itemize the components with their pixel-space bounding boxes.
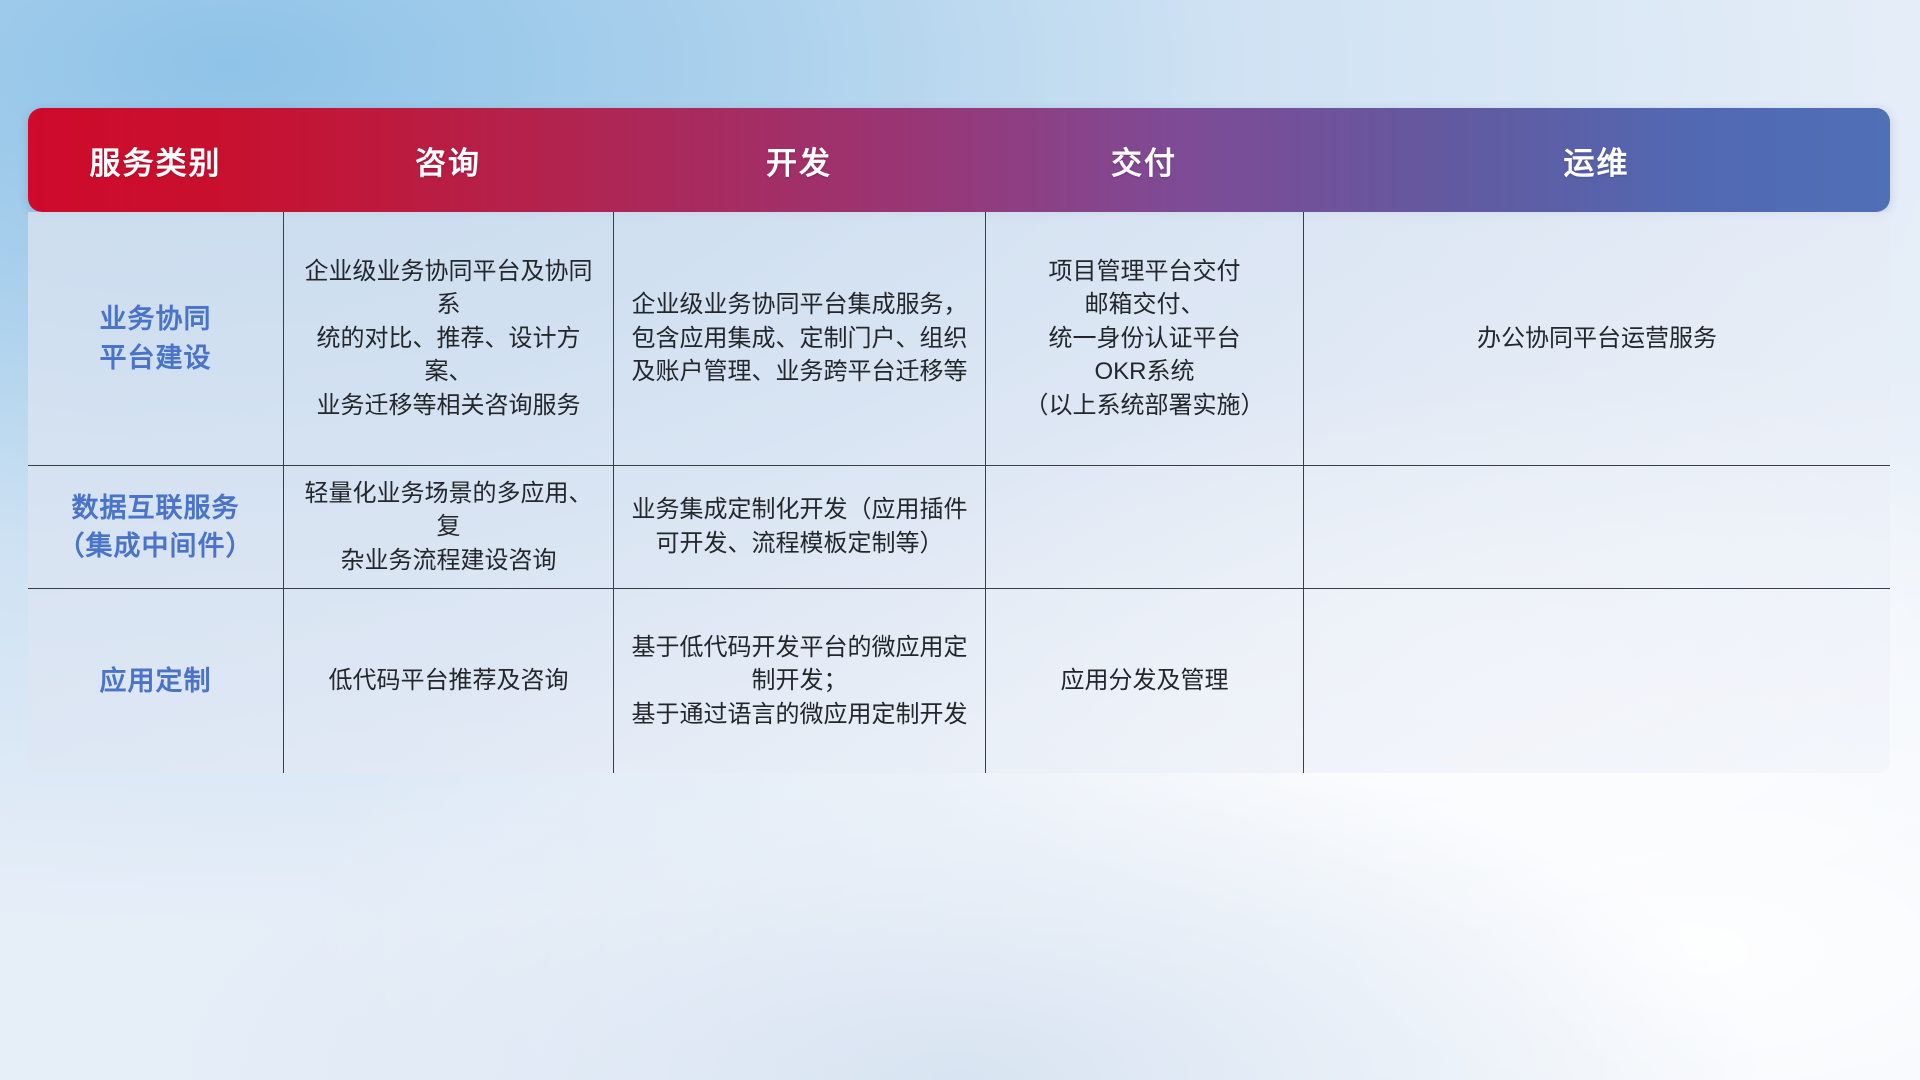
table-row: 业务协同 平台建设 企业级业务协同平台及协同系 统的对比、推荐、设计方案、 业务… bbox=[28, 212, 1890, 465]
table-header-row: 服务类别 咨询 开发 交付 运维 bbox=[28, 108, 1890, 212]
column-header-consulting[interactable]: 咨询 bbox=[283, 138, 613, 183]
column-header-development[interactable]: 开发 bbox=[613, 138, 985, 183]
cell-delivery: 项目管理平台交付 邮箱交付、 统一身份认证平台 OKR系统 （以上系统部署实施） bbox=[985, 212, 1303, 465]
cell-operations-text: 办公协同平台运营服务 bbox=[1477, 322, 1717, 356]
cell-consulting-text: 轻量化业务场景的多应用、复 杂业务流程建设咨询 bbox=[298, 477, 599, 578]
cell-development-text: 业务集成定制化开发（应用插件 可开发、流程模板定制等） bbox=[632, 493, 968, 560]
cell-operations: 办公协同平台运营服务 bbox=[1303, 212, 1890, 465]
row-category-label: 业务协同 平台建设 bbox=[28, 212, 283, 465]
cell-consulting: 企业级业务协同平台及协同系 统的对比、推荐、设计方案、 业务迁移等相关咨询服务 bbox=[283, 212, 613, 465]
column-header-category[interactable]: 服务类别 bbox=[28, 138, 283, 183]
cell-operations bbox=[1303, 589, 1890, 773]
cell-consulting: 轻量化业务场景的多应用、复 杂业务流程建设咨询 bbox=[283, 466, 613, 588]
column-header-delivery[interactable]: 交付 bbox=[985, 138, 1303, 183]
row-category-label: 数据互联服务 （集成中间件） bbox=[28, 466, 283, 588]
service-matrix-table: 服务类别 咨询 开发 交付 运维 业务协同 平台建设 企业级业务协同平台及协同系… bbox=[28, 108, 1890, 773]
cell-delivery-text: 应用分发及管理 bbox=[1061, 664, 1229, 698]
table-row: 数据互联服务 （集成中间件） 轻量化业务场景的多应用、复 杂业务流程建设咨询 业… bbox=[28, 465, 1890, 588]
column-header-operations[interactable]: 运维 bbox=[1303, 138, 1890, 183]
table-row: 应用定制 低代码平台推荐及咨询 基于低代码开发平台的微应用定 制开发； 基于通过… bbox=[28, 588, 1890, 773]
table-body: 业务协同 平台建设 企业级业务协同平台及协同系 统的对比、推荐、设计方案、 业务… bbox=[28, 212, 1890, 773]
cell-development: 业务集成定制化开发（应用插件 可开发、流程模板定制等） bbox=[613, 466, 985, 588]
cell-consulting-text: 企业级业务协同平台及协同系 统的对比、推荐、设计方案、 业务迁移等相关咨询服务 bbox=[298, 255, 599, 423]
cell-development-text: 基于低代码开发平台的微应用定 制开发； 基于通过语言的微应用定制开发 bbox=[632, 631, 968, 732]
cell-delivery-text: 项目管理平台交付 邮箱交付、 统一身份认证平台 OKR系统 （以上系统部署实施） bbox=[1025, 255, 1265, 423]
row-category-label: 应用定制 bbox=[28, 589, 283, 773]
row-category-text: 业务协同 平台建设 bbox=[100, 300, 212, 377]
row-category-text: 数据互联服务 （集成中间件） bbox=[58, 489, 254, 566]
cell-development-text: 企业级业务协同平台集成服务， 包含应用集成、定制门户、组织 及账户管理、业务跨平… bbox=[632, 288, 968, 389]
cell-operations bbox=[1303, 466, 1890, 588]
cell-development: 基于低代码开发平台的微应用定 制开发； 基于通过语言的微应用定制开发 bbox=[613, 589, 985, 773]
cell-consulting-text: 低代码平台推荐及咨询 bbox=[329, 664, 569, 698]
row-category-text: 应用定制 bbox=[100, 662, 212, 700]
cell-delivery bbox=[985, 466, 1303, 588]
cell-development: 企业级业务协同平台集成服务， 包含应用集成、定制门户、组织 及账户管理、业务跨平… bbox=[613, 212, 985, 465]
cell-delivery: 应用分发及管理 bbox=[985, 589, 1303, 773]
cell-consulting: 低代码平台推荐及咨询 bbox=[283, 589, 613, 773]
